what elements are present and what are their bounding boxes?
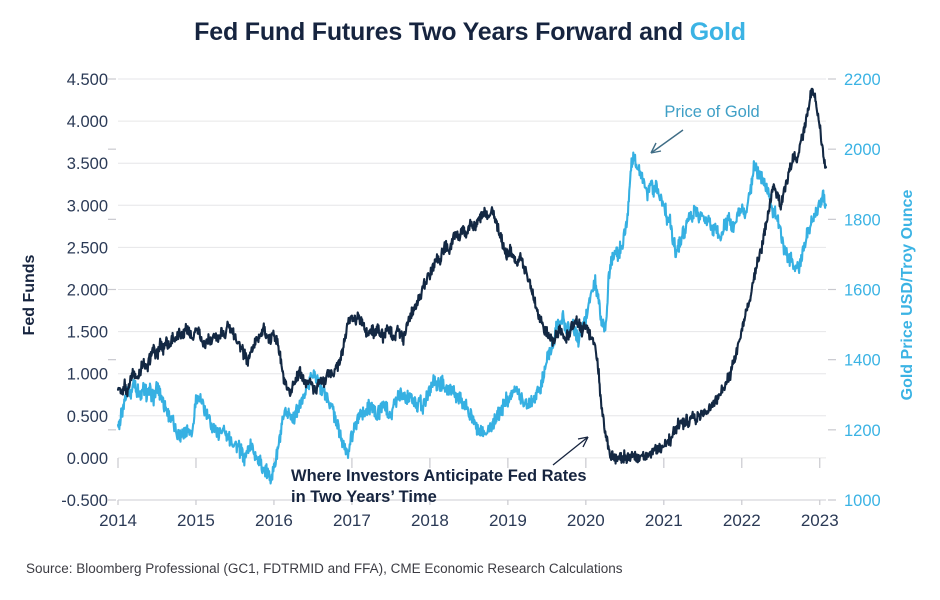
annotation-gold-arrow (651, 130, 683, 153)
annotation-fed-arrow (553, 437, 588, 465)
y-axis-left-tick-label: 2.000 (67, 282, 108, 300)
x-axis-tick-label: 2023 (801, 511, 839, 530)
annotation-fed-label-line2: in Two Years’ Time (291, 488, 437, 506)
x-axis-labels: 2014201520162017201820192020202120222023 (99, 511, 839, 530)
y-axis-left-tick-label: 4.500 (67, 71, 108, 89)
y-axis-left-tick-label: 0.500 (67, 408, 108, 426)
annotation-gold-label: Price of Gold (664, 103, 759, 121)
page-title: Fed Fund Futures Two Years Forward and G… (0, 18, 940, 47)
y-axis-left-tick-label: 3.500 (67, 155, 108, 173)
y-axis-right-tick-label: 1000 (844, 492, 881, 510)
y-axis-right-tick-label: 1200 (844, 422, 881, 440)
x-axis-tick-label: 2019 (489, 511, 527, 530)
y-axis-left-tick-label: 2.500 (67, 239, 108, 257)
y-axis-right-labels: 1000120014001600180020002200 (108, 71, 881, 510)
gridlines-group (118, 79, 826, 500)
y-axis-left-tick-label: 1.000 (67, 366, 108, 384)
annotation-fed-label-line1: Where Investors Anticipate Fed Rates (291, 467, 587, 485)
x-axis-tick-label: 2016 (255, 511, 293, 530)
y-axis-left-title: Fed Funds (21, 254, 38, 335)
x-axis-tick-label: 2015 (177, 511, 215, 530)
chart-plot-area: -0.5000.0000.5001.0001.5002.0002.5003.00… (0, 0, 940, 600)
y-axis-right-tick-label: 2000 (844, 141, 881, 159)
series-line-fed-funds (118, 89, 826, 464)
x-axis-tick-label: 2017 (333, 511, 371, 530)
y-axis-right-tick-label: 1800 (844, 211, 881, 229)
y-axis-left-tick-label: 0.000 (67, 450, 108, 468)
source-note: Source: Bloomberg Professional (GC1, FDT… (26, 561, 622, 576)
y-axis-right-tick-label: 1600 (844, 282, 881, 300)
y-axis-right-tick-label: 2200 (844, 71, 881, 89)
title-main-text: Fed Fund Futures Two Years Forward and (194, 18, 690, 46)
y-axis-left-tick-label: -0.500 (61, 492, 108, 510)
x-axis-tick-label: 2014 (99, 511, 137, 530)
y-axis-left-tick-label: 1.500 (67, 324, 108, 342)
x-axis-tick-label: 2021 (645, 511, 683, 530)
y-axis-right-title: Gold Price USD/Troy Ounce (899, 190, 916, 401)
x-axis-tick-label: 2022 (723, 511, 761, 530)
series-line-gold (118, 153, 826, 484)
y-axis-right-tick-label: 1400 (844, 352, 881, 370)
x-axis-tick-label: 2020 (567, 511, 605, 530)
chart-container: Fed Fund Futures Two Years Forward and G… (0, 0, 940, 600)
y-axis-left-tick-label: 4.000 (67, 113, 108, 131)
title-highlight-text: Gold (690, 18, 746, 46)
x-axis-tick-label: 2018 (411, 511, 449, 530)
y-axis-left-tick-label: 3.000 (67, 197, 108, 215)
y-axis-left-labels: -0.5000.0000.5001.0001.5002.0002.5003.00… (61, 71, 108, 510)
